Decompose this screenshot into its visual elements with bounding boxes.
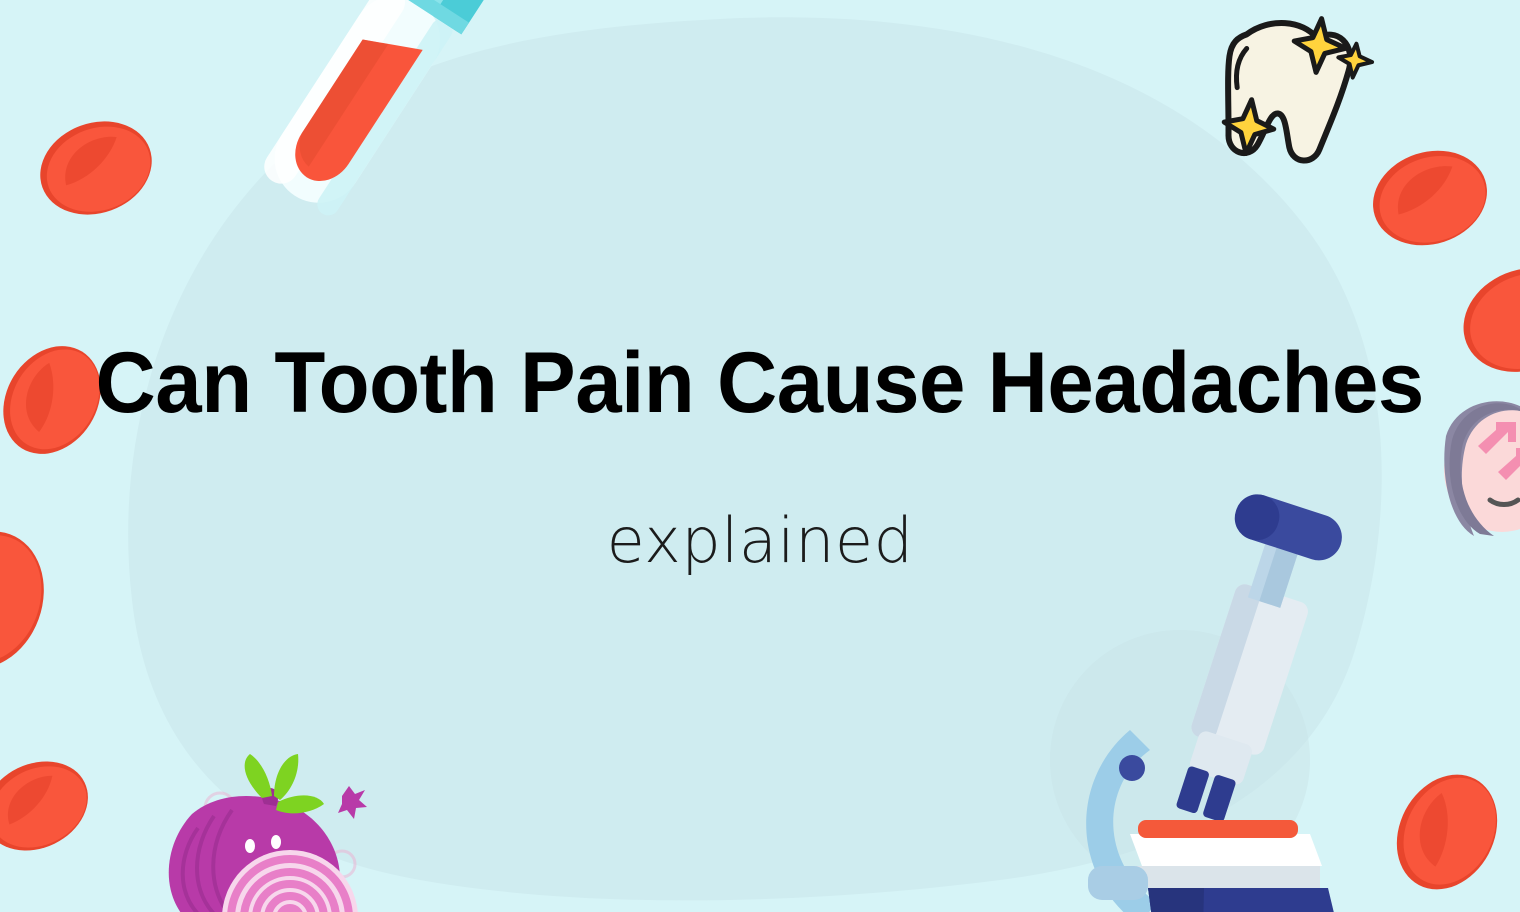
sparkle-icon <box>338 786 367 819</box>
onion-eye <box>271 835 281 849</box>
blood-cell-icon <box>0 328 120 472</box>
decorations-layer <box>0 0 1520 912</box>
blood-cell-icon <box>1377 757 1516 907</box>
headache-face-icon <box>1444 401 1520 536</box>
blood-cell-icon <box>0 515 63 685</box>
blood-cell-icon <box>1361 136 1500 259</box>
blood-cell-icon <box>27 106 165 230</box>
blood-cell-icon <box>1448 250 1520 389</box>
slide-canvas: Can Tooth Pain Cause Headaches explained <box>0 0 1520 912</box>
tooth-icon <box>1216 7 1377 169</box>
onion-icon <box>169 754 367 912</box>
blood-cell-icon <box>0 745 103 868</box>
microscope-icon <box>1050 489 1350 912</box>
test-tube-icon <box>251 0 497 224</box>
onion-eye <box>245 839 255 853</box>
